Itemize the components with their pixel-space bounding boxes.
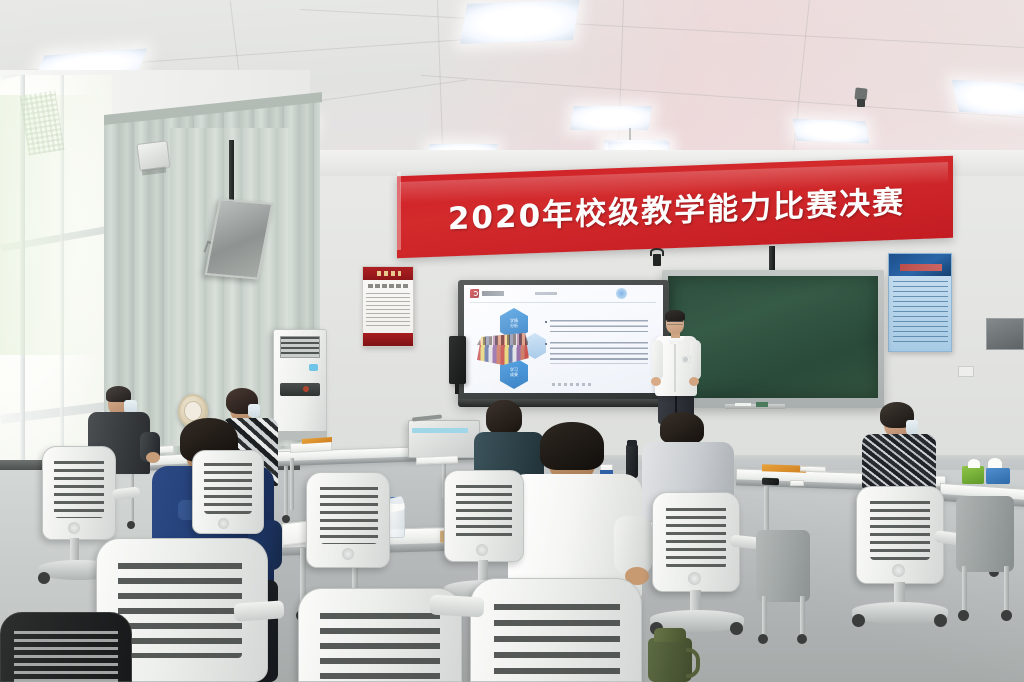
chair-backrest-slots: [456, 480, 512, 540]
presenter-arm-right: [690, 340, 701, 380]
ceiling-light-panel: [570, 106, 651, 130]
lectern-cabinet[interactable]: [408, 420, 480, 458]
surveillance-camera-icon: [653, 254, 661, 266]
chair-backrest[interactable]: [956, 496, 1014, 572]
chair-backrest-slots: [870, 496, 930, 560]
air-conditioner-display-icon: [309, 364, 318, 371]
chair-backrest-slots: [14, 626, 118, 682]
air-conditioner-indicator-icon: [303, 386, 309, 392]
blackboard-surface[interactable]: [668, 276, 878, 398]
desk-caster: [127, 521, 135, 529]
chair-adjust-knob[interactable]: [476, 544, 488, 556]
chair-adjust-knob[interactable]: [68, 522, 80, 534]
person-arm: [614, 516, 652, 574]
chair-backrest[interactable]: [756, 530, 810, 602]
chair-caster: [1001, 610, 1012, 621]
chair-adjust-knob[interactable]: [218, 518, 229, 529]
chair-leg: [962, 566, 967, 614]
tissue-sheet[interactable]: [968, 459, 980, 468]
ceiling-light-panel: [460, 0, 580, 44]
tissue-box-blue[interactable]: [986, 468, 1010, 484]
black-tumbler-lid[interactable]: [627, 440, 637, 446]
document-stack[interactable]: [416, 455, 458, 464]
notice-poster-footer: [363, 333, 413, 346]
lectern-label: [412, 428, 468, 433]
presenter-shirt-placket: [674, 344, 676, 392]
display-glare: [464, 285, 663, 393]
tissue-box-green[interactable]: [962, 466, 984, 484]
chair-backrest-slots: [204, 458, 252, 514]
desk-leg: [284, 460, 288, 518]
air-conditioner-outlet: [280, 383, 320, 396]
chair-backrest-slots: [118, 554, 242, 658]
classroom-photo: 2020年校级教学能力比赛决赛 学情分析 学习成果: [0, 0, 1024, 682]
power-outlet[interactable]: [958, 366, 974, 377]
chair-backrest-slots: [666, 503, 726, 569]
presenter-name-badge: [683, 357, 688, 362]
chair-caster: [958, 610, 969, 621]
guidelines-poster-body-text: [893, 281, 948, 346]
chalk-tray: [725, 404, 785, 409]
desk-leg: [290, 458, 294, 510]
black-tumbler-body[interactable]: [626, 444, 638, 478]
notice-poster-body-text: [366, 293, 410, 329]
smoke-detector-sensor-icon: [857, 99, 865, 107]
notice-poster-header-text: [377, 271, 401, 276]
eyeglasses-icon: [667, 321, 683, 325]
chair-caster: [934, 614, 947, 627]
chair-caster: [38, 572, 50, 584]
chair-caster: [758, 634, 768, 644]
chair-leg: [1004, 566, 1009, 614]
ceiling-light-panel: [793, 119, 869, 143]
notice-poster-title-text: [368, 284, 408, 288]
chair-adjust-knob[interactable]: [892, 564, 905, 577]
window-green-tint: [0, 95, 112, 355]
av-speaker-stand: [455, 382, 459, 394]
air-conditioner-vent: [280, 336, 320, 358]
presenter-hand-left: [651, 377, 661, 386]
person-hair: [486, 400, 522, 434]
guidelines-poster-title-text: [900, 264, 942, 271]
chair-leg: [800, 596, 805, 638]
wall-plaque: [986, 318, 1024, 350]
face-mask: [248, 404, 260, 417]
chair-adjust-knob[interactable]: [688, 572, 701, 585]
chair-backrest-slots: [320, 482, 378, 544]
document-stack[interactable]: [800, 466, 826, 473]
smartphone[interactable]: [762, 478, 779, 486]
chair-caster: [730, 622, 743, 635]
chair-adjust-knob[interactable]: [342, 548, 354, 560]
chair-leg: [762, 596, 767, 638]
presenter-arm-left: [652, 340, 663, 380]
person-hair: [540, 422, 604, 470]
chair-backrest-slots: [54, 456, 104, 518]
person-hand: [146, 452, 160, 463]
chair-backrest-slots: [494, 594, 620, 682]
chair-armrest[interactable]: [233, 600, 284, 621]
ceiling-wire: [629, 128, 631, 140]
av-speaker: [449, 336, 466, 384]
person-hair: [660, 412, 704, 444]
ceiling-light-panel: [952, 80, 1024, 116]
chair-armrest[interactable]: [430, 595, 485, 618]
chair-caster: [852, 614, 865, 627]
face-mask: [906, 420, 918, 434]
presenter-hair: [665, 310, 685, 321]
chalk-stick[interactable]: [735, 403, 751, 406]
blackboard-eraser[interactable]: [756, 402, 768, 407]
chair-backrest-slots: [320, 604, 440, 682]
chair-caster: [797, 634, 807, 644]
presenter-hand-right: [689, 377, 699, 386]
paper-slip[interactable]: [790, 480, 804, 486]
thermos-flask-lid[interactable]: [654, 628, 686, 642]
